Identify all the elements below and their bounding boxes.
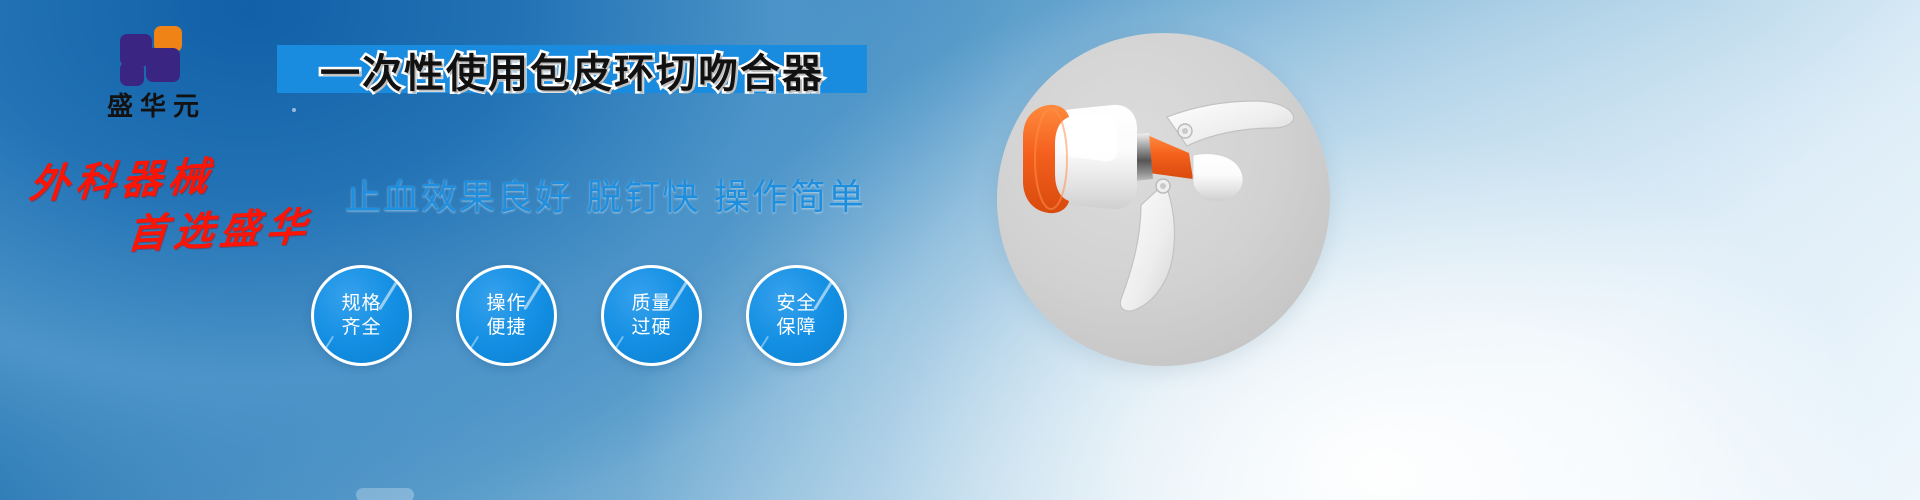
badge-easy-operation[interactable]: 操作 便捷	[456, 265, 557, 366]
headline-bar: 一次性使用包皮环切吻合器	[277, 45, 867, 93]
stapler-lower-pivot-pin	[1160, 183, 1166, 189]
brand-logo: 盛华元	[63, 26, 243, 122]
shine-streak-small-icon	[614, 336, 624, 351]
headline-title: 一次性使用包皮环切吻合器	[320, 41, 824, 99]
badge-line-2: 过硬	[631, 316, 671, 338]
badge-line-2: 齐全	[341, 316, 381, 338]
shine-streak-small-icon	[469, 336, 479, 351]
background-speck	[356, 488, 414, 500]
brand-name: 盛华元	[63, 93, 243, 122]
shine-streak-small-icon	[324, 336, 334, 351]
stapler-upper-pivot-pin	[1182, 128, 1188, 134]
badge-specifications-complete[interactable]: 规格 齐全	[311, 265, 412, 366]
badge-line-1: 安全	[776, 292, 816, 314]
slogan-calligraphy: 外科器械 首选盛华	[20, 148, 350, 258]
circumcision-stapler-illustration	[997, 33, 1330, 366]
feature-badge-row: 规格 齐全 操作 便捷 质量 过硬 安全 保障	[311, 265, 847, 366]
product-image	[997, 33, 1330, 366]
badge-line-1: 操作	[486, 292, 526, 314]
badge-line-1: 规格	[341, 292, 381, 314]
stapler-body-highlight	[1061, 115, 1117, 161]
stapler-tip-cap	[1193, 154, 1243, 202]
badge-solid-quality[interactable]: 质量 过硬	[601, 265, 702, 366]
promo-banner: 盛华元 外科器械 首选盛华 一次性使用包皮环切吻合器 止血效果良好 脱钉快 操作…	[0, 0, 1920, 500]
shine-streak-small-icon	[759, 336, 769, 351]
background-speck	[292, 108, 296, 112]
logo-block-purple-bottom	[120, 62, 144, 86]
subtitle-text: 止血效果良好 脱钉快 操作简单	[345, 168, 866, 220]
brand-mark-icon	[120, 26, 186, 86]
logo-block-purple-right	[146, 48, 180, 82]
badge-line-2: 保障	[776, 316, 816, 338]
badge-line-1: 质量	[631, 292, 671, 314]
badge-safety-guarantee[interactable]: 安全 保障	[746, 265, 847, 366]
badge-line-2: 便捷	[486, 316, 526, 338]
slogan-line-2: 首选盛华	[125, 194, 314, 260]
